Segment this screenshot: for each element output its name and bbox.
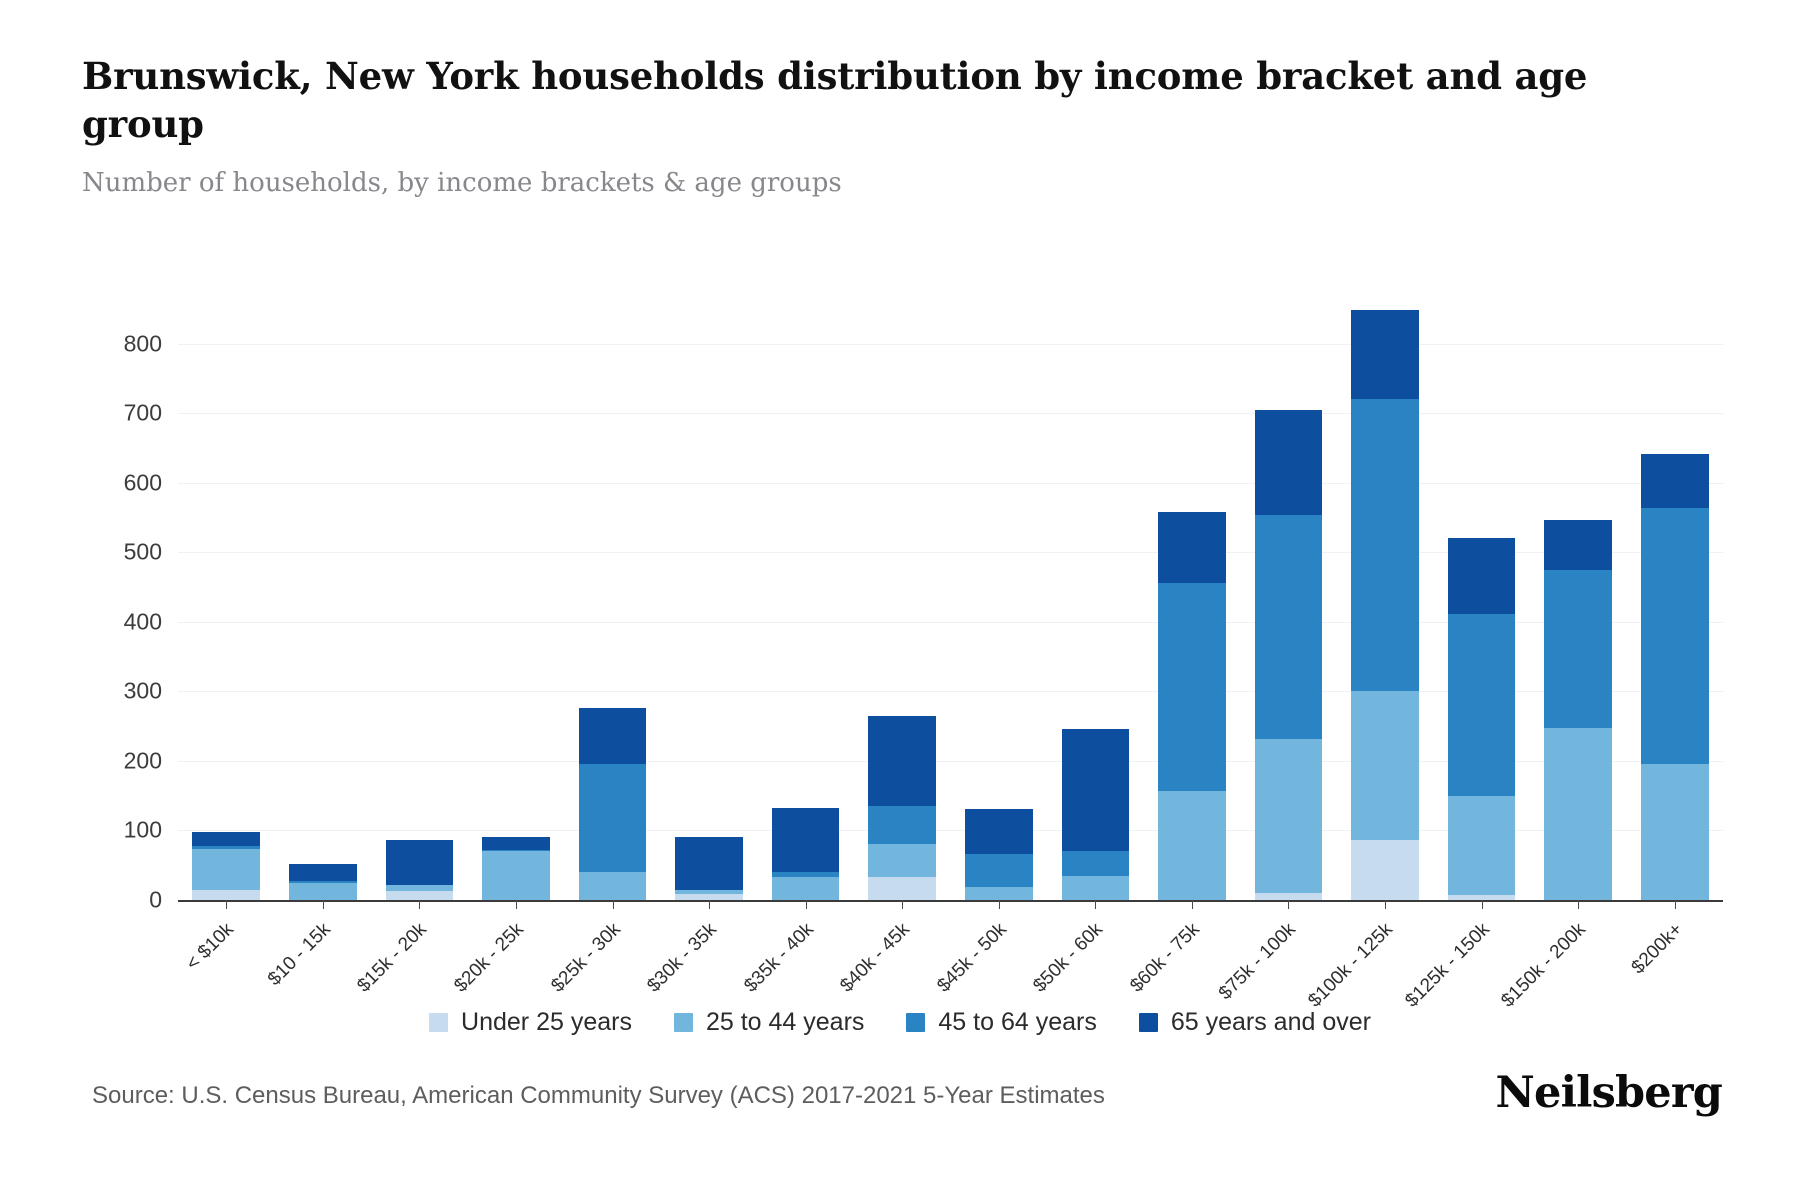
- y-axis-tick-label: 800: [70, 330, 162, 357]
- x-axis-tick-mark: [323, 900, 324, 909]
- bar-stack[interactable]: [1544, 295, 1612, 900]
- bar-segment[interactable]: [1158, 791, 1226, 900]
- bar-segment[interactable]: [192, 832, 260, 847]
- legend-item[interactable]: 25 to 44 years: [674, 1008, 864, 1037]
- x-axis-tick-label: $150k - 200k: [1497, 919, 1590, 1012]
- bar-segment[interactable]: [772, 877, 840, 900]
- x-axis-tick-label: $125k - 150k: [1401, 919, 1494, 1012]
- bar-segment[interactable]: [386, 840, 454, 885]
- bar-segment[interactable]: [386, 885, 454, 891]
- bar-stack[interactable]: [1351, 295, 1419, 900]
- bar-segment[interactable]: [965, 809, 1033, 854]
- bar-segment[interactable]: [192, 846, 260, 848]
- bar-series-container: [178, 295, 1723, 900]
- legend-label: Under 25 years: [461, 1008, 632, 1037]
- x-axis-tick-mark: [1385, 900, 1386, 909]
- plot-area: 0100200300400500600700800 < $10k$10 - 15…: [178, 295, 1723, 900]
- x-axis-tick-mark: [709, 900, 710, 909]
- bar-segment[interactable]: [675, 837, 743, 890]
- bar-segment[interactable]: [868, 806, 936, 844]
- chart-page: Brunswick, New York households distribut…: [0, 0, 1800, 1200]
- bar-segment[interactable]: [868, 844, 936, 877]
- bar-segment[interactable]: [1448, 538, 1516, 613]
- bar-stack[interactable]: [386, 295, 454, 900]
- bar-segment[interactable]: [772, 808, 840, 873]
- bar-segment[interactable]: [1062, 851, 1130, 875]
- bar-segment[interactable]: [868, 877, 936, 900]
- x-axis-tick-label: $15k - 20k: [354, 919, 432, 997]
- bar-segment[interactable]: [482, 850, 550, 851]
- bar-segment[interactable]: [1158, 583, 1226, 791]
- bar-segment[interactable]: [1641, 764, 1709, 900]
- bar-stack[interactable]: [772, 295, 840, 900]
- bar-stack[interactable]: [1448, 295, 1516, 900]
- x-axis-tick-label: $50k - 60k: [1030, 919, 1108, 997]
- bar-stack[interactable]: [1255, 295, 1323, 900]
- x-axis-tick-label: $100k - 125k: [1304, 919, 1397, 1012]
- bar-segment[interactable]: [1255, 410, 1323, 516]
- bar-segment[interactable]: [482, 851, 550, 900]
- y-axis-tick-label: 700: [70, 400, 162, 427]
- bar-segment[interactable]: [1448, 614, 1516, 796]
- y-axis-tick-label: 600: [70, 469, 162, 496]
- x-axis-tick-mark: [419, 900, 420, 909]
- legend-swatch-icon: [1139, 1013, 1158, 1032]
- bar-stack[interactable]: [1158, 295, 1226, 900]
- legend-label: 25 to 44 years: [706, 1008, 864, 1037]
- y-axis-tick-label: 400: [70, 608, 162, 635]
- x-axis-tick-mark: [1578, 900, 1579, 909]
- bar-segment[interactable]: [1544, 728, 1612, 900]
- x-axis-tick-mark: [226, 900, 227, 909]
- bar-segment[interactable]: [579, 708, 647, 764]
- axis-baseline: [178, 900, 1723, 902]
- bar-segment[interactable]: [1062, 876, 1130, 900]
- x-axis-tick-label: $10 - 15k: [264, 919, 336, 991]
- bar-segment[interactable]: [965, 887, 1033, 900]
- x-axis-tick-mark: [902, 900, 903, 909]
- x-axis-tick-label: $40k - 45k: [836, 919, 914, 997]
- x-axis-tick-mark: [1095, 900, 1096, 909]
- bar-segment[interactable]: [1544, 570, 1612, 728]
- y-axis-tick-label: 500: [70, 539, 162, 566]
- x-axis-tick-label: $60k - 75k: [1126, 919, 1204, 997]
- legend-label: 45 to 64 years: [938, 1008, 1096, 1037]
- legend-item[interactable]: 45 to 64 years: [906, 1008, 1096, 1037]
- legend-swatch-icon: [674, 1013, 693, 1032]
- x-axis-tick-label: < $10k: [183, 919, 239, 975]
- bar-stack[interactable]: [482, 295, 550, 900]
- bar-segment[interactable]: [965, 854, 1033, 887]
- x-axis-tick-mark: [806, 900, 807, 909]
- brand-logo: Neilsberg: [1496, 1068, 1723, 1118]
- bar-segment[interactable]: [1641, 508, 1709, 764]
- bar-stack[interactable]: [192, 295, 260, 900]
- x-axis-tick-label: $200k+: [1627, 919, 1687, 979]
- x-axis-tick-label: $25k - 30k: [547, 919, 625, 997]
- bar-segment[interactable]: [675, 890, 743, 895]
- legend-item[interactable]: Under 25 years: [429, 1008, 632, 1037]
- x-axis-tick-label: $20k - 25k: [450, 919, 528, 997]
- bar-segment[interactable]: [1448, 796, 1516, 895]
- legend-label: 65 years and over: [1171, 1008, 1371, 1037]
- bar-stack[interactable]: [289, 295, 357, 900]
- x-axis-tick-label: $35k - 40k: [740, 919, 818, 997]
- y-axis-tick-label: 100: [70, 817, 162, 844]
- bar-segment[interactable]: [386, 891, 454, 900]
- bar-stack[interactable]: [1641, 295, 1709, 900]
- bar-stack[interactable]: [868, 295, 936, 900]
- bar-segment[interactable]: [1255, 893, 1323, 900]
- legend-item[interactable]: 65 years and over: [1139, 1008, 1371, 1037]
- bar-segment[interactable]: [1544, 520, 1612, 569]
- bar-stack[interactable]: [965, 295, 1033, 900]
- bar-segment[interactable]: [1351, 840, 1419, 900]
- bar-segment[interactable]: [482, 837, 550, 850]
- x-axis-tick-mark: [1675, 900, 1676, 909]
- bar-segment[interactable]: [192, 849, 260, 891]
- bar-segment[interactable]: [868, 716, 936, 806]
- y-axis-tick-label: 0: [70, 887, 162, 914]
- x-axis-tick-mark: [516, 900, 517, 909]
- y-axis-tick-label: 200: [70, 747, 162, 774]
- bar-segment[interactable]: [579, 764, 647, 872]
- bar-segment[interactable]: [289, 883, 357, 900]
- x-axis-tick-mark: [1192, 900, 1193, 909]
- bar-segment[interactable]: [1351, 691, 1419, 841]
- x-axis-tick-label: $30k - 35k: [643, 919, 721, 997]
- x-axis-tick-mark: [999, 900, 1000, 909]
- bar-segment[interactable]: [1351, 399, 1419, 691]
- bar-segment[interactable]: [1255, 739, 1323, 893]
- bar-segment[interactable]: [1158, 512, 1226, 583]
- source-note: Source: U.S. Census Bureau, American Com…: [92, 1082, 1105, 1110]
- bar-segment[interactable]: [1351, 310, 1419, 398]
- bar-segment[interactable]: [1641, 454, 1709, 508]
- x-axis-tick-label: $75k - 100k: [1215, 919, 1301, 1005]
- y-axis-tick-label: 300: [70, 678, 162, 705]
- bar-stack[interactable]: [675, 295, 743, 900]
- bar-segment[interactable]: [289, 864, 357, 881]
- legend-swatch-icon: [906, 1013, 925, 1032]
- x-axis-tick-mark: [613, 900, 614, 909]
- bar-segment[interactable]: [289, 881, 357, 883]
- bar-segment[interactable]: [192, 890, 260, 900]
- x-axis-tick-mark: [1482, 900, 1483, 909]
- bar-stack[interactable]: [1062, 295, 1130, 900]
- bar-segment[interactable]: [1255, 515, 1323, 738]
- chart-legend: Under 25 years25 to 44 years45 to 64 yea…: [0, 1008, 1800, 1037]
- x-axis-tick-mark: [1288, 900, 1289, 909]
- bar-segment[interactable]: [1062, 729, 1130, 851]
- bar-segment[interactable]: [772, 872, 840, 877]
- bar-segment[interactable]: [579, 872, 647, 900]
- legend-swatch-icon: [429, 1013, 448, 1032]
- x-axis-tick-label: $45k - 50k: [933, 919, 1011, 997]
- bar-stack[interactable]: [579, 295, 647, 900]
